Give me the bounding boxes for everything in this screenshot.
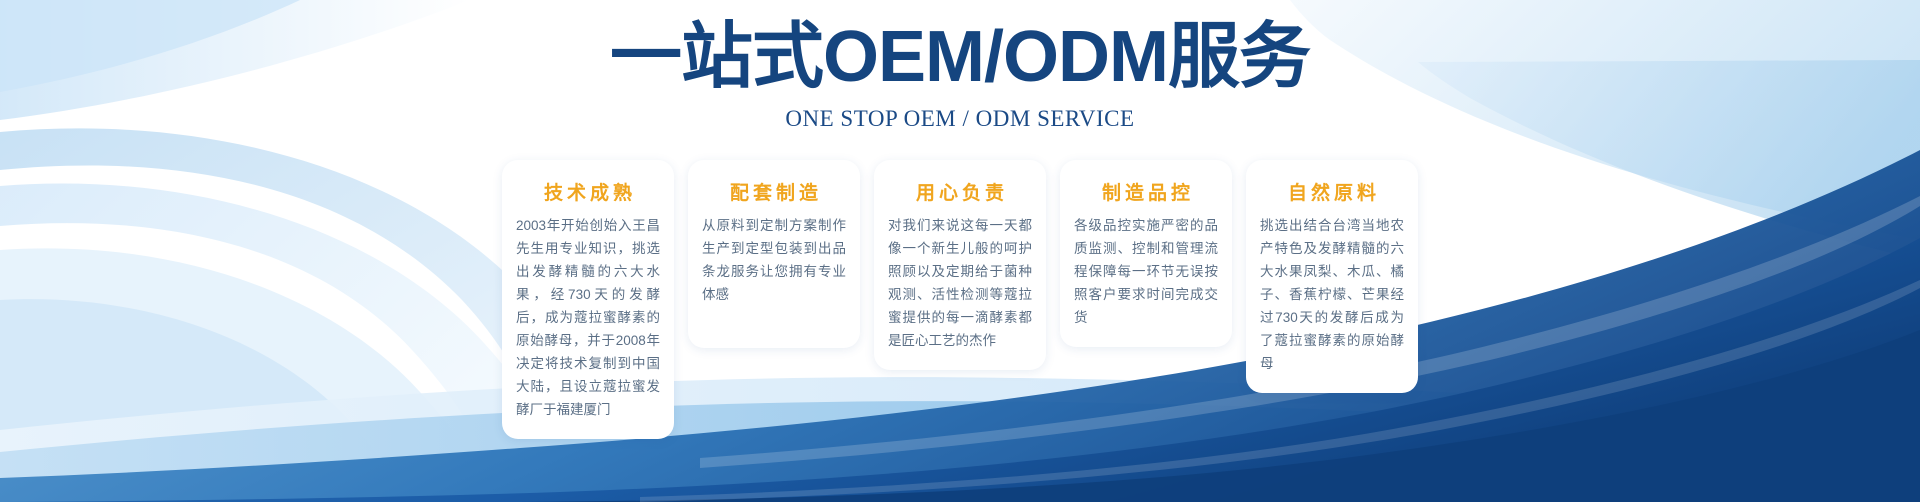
card-body: 挑选出结合台湾当地农产特色及发酵精髓的六大水果凤梨、木瓜、橘子、香蕉柠檬、芒果经… bbox=[1260, 214, 1404, 375]
card-title: 技术成熟 bbox=[540, 178, 636, 205]
card-title: 自然原料 bbox=[1284, 178, 1380, 205]
card-body: 2003年开始创始入王昌先生用专业知识，挑选出发酵精髓的六大水果，经730天的发… bbox=[516, 214, 660, 421]
page-title: 一站式OEM/ODM服务 bbox=[0, 18, 1920, 96]
oem-odm-banner: 一站式OEM/ODM服务 ONE STOP OEM / ODM SERVICE … bbox=[0, 0, 1920, 502]
feature-card-natural-ingredients[interactable]: 自然原料 挑选出结合台湾当地农产特色及发酵精髓的六大水果凤梨、木瓜、橘子、香蕉柠… bbox=[1246, 160, 1418, 393]
card-body: 各级品控实施严密的品质监测、控制和管理流程保障每一环节无误按照客户要求时间完成交… bbox=[1074, 214, 1218, 329]
page-subtitle: ONE STOP OEM / ODM SERVICE bbox=[0, 106, 1920, 132]
card-title: 配套制造 bbox=[726, 178, 822, 205]
feature-card-quality-control[interactable]: 制造品控 各级品控实施严密的品质监测、控制和管理流程保障每一环节无误按照客户要求… bbox=[1060, 160, 1232, 347]
feature-card-responsibility[interactable]: 用心负责 对我们来说这每一天都像一个新生儿般的呵护照顾以及定期给于菌种观测、活性… bbox=[874, 160, 1046, 370]
card-title: 用心负责 bbox=[912, 178, 1008, 205]
card-title: 制造品控 bbox=[1098, 178, 1194, 205]
banner-heading-group: 一站式OEM/ODM服务 ONE STOP OEM / ODM SERVICE bbox=[0, 18, 1920, 132]
feature-card-manufacturing[interactable]: 配套制造 从原料到定制方案制作生产到定型包装到出品条龙服务让您拥有专业体感 bbox=[688, 160, 860, 348]
card-body: 从原料到定制方案制作生产到定型包装到出品条龙服务让您拥有专业体感 bbox=[702, 214, 846, 306]
card-body: 对我们来说这每一天都像一个新生儿般的呵护照顾以及定期给于菌种观测、活性检测等蔻拉… bbox=[888, 214, 1032, 352]
feature-card-technology[interactable]: 技术成熟 2003年开始创始入王昌先生用专业知识，挑选出发酵精髓的六大水果，经7… bbox=[502, 160, 674, 439]
feature-card-list: 技术成熟 2003年开始创始入王昌先生用专业知识，挑选出发酵精髓的六大水果，经7… bbox=[0, 160, 1920, 390]
